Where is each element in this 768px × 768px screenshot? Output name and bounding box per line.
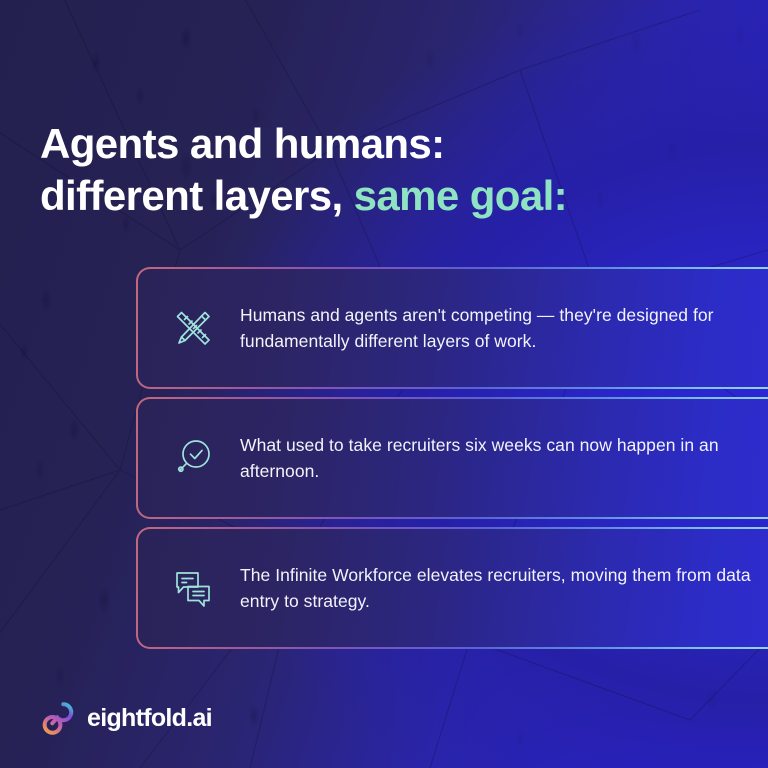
brand-logo: eightfold.ai bbox=[40, 699, 212, 737]
benefit-card: What used to take recruiters six weeks c… bbox=[136, 397, 768, 519]
magnifier-check-icon bbox=[162, 427, 224, 489]
benefit-card: The Infinite Workforce elevates recruite… bbox=[136, 527, 768, 649]
benefit-card: Humans and agents aren't competing — the… bbox=[136, 267, 768, 389]
benefit-card-text: Humans and agents aren't competing — the… bbox=[224, 302, 768, 354]
heading-line-2-plain: different layers, bbox=[40, 172, 354, 219]
benefit-card-inner: Humans and agents aren't competing — the… bbox=[138, 269, 768, 387]
benefit-card-text: The Infinite Workforce elevates recruite… bbox=[224, 562, 768, 614]
slide-canvas: Agents and humans: different layers, sam… bbox=[0, 0, 768, 768]
heading-line-2-accent: same goal: bbox=[354, 172, 567, 219]
infinity-loop-icon bbox=[40, 699, 78, 737]
page-title: Agents and humans: different layers, sam… bbox=[40, 118, 730, 222]
benefit-card-text: What used to take recruiters six weeks c… bbox=[224, 432, 768, 484]
benefit-card-inner: What used to take recruiters six weeks c… bbox=[138, 399, 768, 517]
benefit-card-inner: The Infinite Workforce elevates recruite… bbox=[138, 529, 768, 647]
benefit-card-list: Humans and agents aren't competing — the… bbox=[136, 267, 768, 657]
chat-bubbles-icon bbox=[162, 557, 224, 619]
brand-name: eightfold.ai bbox=[87, 704, 212, 733]
heading-line-1: Agents and humans: bbox=[40, 120, 445, 167]
ruler-pencil-icon bbox=[162, 297, 224, 359]
